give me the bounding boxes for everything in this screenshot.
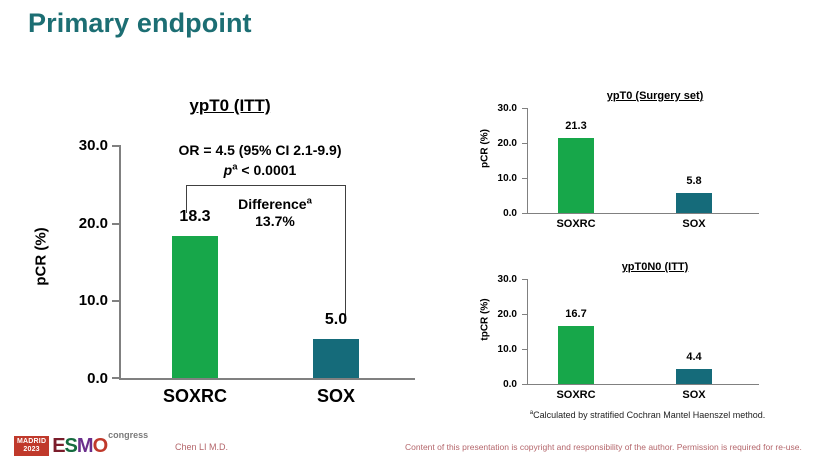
x-category-soxrc-t0n0: SOXRC bbox=[541, 389, 611, 401]
x-category-soxrc: SOXRC bbox=[145, 386, 245, 407]
difference-value-text: 13.7% bbox=[255, 213, 295, 229]
chart-title-ypt0-surgery: ypT0 (Surgery set) bbox=[525, 90, 785, 102]
madrid-line1: MADRID bbox=[17, 438, 46, 446]
y-tick-10-t0n0: 10.0 bbox=[475, 344, 517, 355]
x-category-sox: SOX bbox=[286, 386, 386, 407]
y-tickmark-30-surgery bbox=[522, 108, 528, 109]
y-tickmark-30-t0n0 bbox=[522, 279, 528, 280]
y-tickmark-10-surgery bbox=[522, 178, 528, 179]
y-tickmark-30 bbox=[112, 145, 120, 147]
bar-sox bbox=[313, 339, 359, 378]
x-axis-line-surgery bbox=[527, 213, 759, 214]
y-tickmark-0 bbox=[112, 377, 120, 379]
x-category-sox-t0n0: SOX bbox=[659, 389, 729, 401]
y-tickmark-0-t0n0 bbox=[522, 384, 528, 385]
y-tickmark-0-surgery bbox=[522, 213, 528, 214]
footnote: aCalculated by stratified Cochran Mantel… bbox=[470, 410, 825, 420]
y-tick-0-t0n0: 0.0 bbox=[475, 379, 517, 390]
chart-ypt0-surgery-set: ypT0 (Surgery set) pCR (%) 30.0 20.0 10.… bbox=[465, 85, 830, 235]
bar-value-soxrc: 18.3 bbox=[155, 208, 235, 226]
bar-soxrc-t0n0 bbox=[558, 326, 594, 384]
bar-value-soxrc-surgery: 21.3 bbox=[546, 120, 606, 132]
madrid-2023-badge: MADRID 2023 bbox=[14, 436, 49, 456]
esmo-letter-s: S bbox=[65, 435, 77, 457]
y-tick-20-surgery: 20.0 bbox=[475, 138, 517, 149]
y-tick-10-surgery: 10.0 bbox=[475, 173, 517, 184]
slide-footer: MADRID 2023 ESMO congress Chen LI M.D. C… bbox=[0, 428, 832, 468]
bar-soxrc-surgery bbox=[558, 138, 594, 213]
esmo-wordmark: ESMO bbox=[52, 436, 107, 456]
x-axis-line bbox=[119, 378, 415, 380]
y-tick-10: 10.0 bbox=[58, 292, 108, 309]
y-tickmark-10 bbox=[112, 300, 120, 302]
bar-sox-t0n0 bbox=[676, 369, 712, 384]
chart-title-ypt0-itt: ypT0 (ITT) bbox=[120, 96, 340, 116]
y-tick-20-t0n0: 20.0 bbox=[475, 309, 517, 320]
y-tick-30-t0n0: 30.0 bbox=[475, 274, 517, 285]
bar-sox-surgery bbox=[676, 193, 712, 213]
madrid-line2: 2023 bbox=[17, 446, 46, 454]
difference-bracket-top bbox=[186, 185, 346, 186]
y-tick-0-surgery: 0.0 bbox=[475, 208, 517, 219]
y-tickmark-20-t0n0 bbox=[522, 314, 528, 315]
chart-ypt0n0-itt: ypT0N0 (ITT) tpCR (%) 30.0 20.0 10.0 0.0… bbox=[465, 256, 830, 406]
y-tick-30-surgery: 30.0 bbox=[475, 103, 517, 114]
y-axis-line-surgery bbox=[527, 108, 528, 214]
bar-value-soxrc-t0n0: 16.7 bbox=[546, 308, 606, 320]
copyright-notice: Content of this presentation is copyrigh… bbox=[405, 442, 802, 452]
bar-soxrc bbox=[172, 236, 218, 378]
difference-label-text: Difference bbox=[238, 196, 306, 212]
y-tickmark-20 bbox=[112, 223, 120, 225]
y-tick-20: 20.0 bbox=[58, 215, 108, 232]
x-axis-line-t0n0 bbox=[527, 384, 759, 385]
x-category-sox-surgery: SOX bbox=[659, 218, 729, 230]
bar-value-sox: 5.0 bbox=[296, 311, 376, 329]
footnote-text: Calculated by stratified Cochran Mantel … bbox=[533, 410, 765, 420]
p-value-annotation: pa < 0.0001 bbox=[140, 162, 380, 178]
difference-bracket-right bbox=[345, 185, 346, 322]
bar-value-sox-surgery: 5.8 bbox=[664, 175, 724, 187]
y-axis-label-pcr: pCR (%) bbox=[33, 222, 50, 292]
y-tickmark-10-t0n0 bbox=[522, 349, 528, 350]
congress-wordmark: congress bbox=[108, 430, 148, 440]
chart-title-ypt0n0: ypT0N0 (ITT) bbox=[525, 261, 785, 273]
x-category-soxrc-surgery: SOXRC bbox=[541, 218, 611, 230]
or-annotation: OR = 4.5 (95% CI 2.1-9.9) bbox=[140, 142, 380, 158]
esmo-letter-o: O bbox=[93, 435, 108, 457]
difference-footnote-marker: a bbox=[307, 195, 312, 206]
esmo-letter-e: E bbox=[52, 435, 64, 457]
esmo-letter-m: M bbox=[77, 435, 93, 457]
presenter-name: Chen LI M.D. bbox=[175, 442, 228, 452]
bar-value-sox-t0n0: 4.4 bbox=[664, 351, 724, 363]
y-tick-30: 30.0 bbox=[58, 137, 108, 154]
y-axis-line bbox=[119, 145, 121, 379]
p-italic: p bbox=[224, 162, 233, 178]
y-tick-0: 0.0 bbox=[58, 370, 108, 387]
chart-ypt0-itt: ypT0 (ITT) pCR (%) 30.0 20.0 10.0 0.0 OR… bbox=[0, 0, 460, 420]
y-axis-line-t0n0 bbox=[527, 279, 528, 385]
esmo-congress-logo: MADRID 2023 ESMO congress bbox=[14, 430, 148, 456]
y-tickmark-20-surgery bbox=[522, 143, 528, 144]
p-rest: < 0.0001 bbox=[238, 162, 297, 178]
